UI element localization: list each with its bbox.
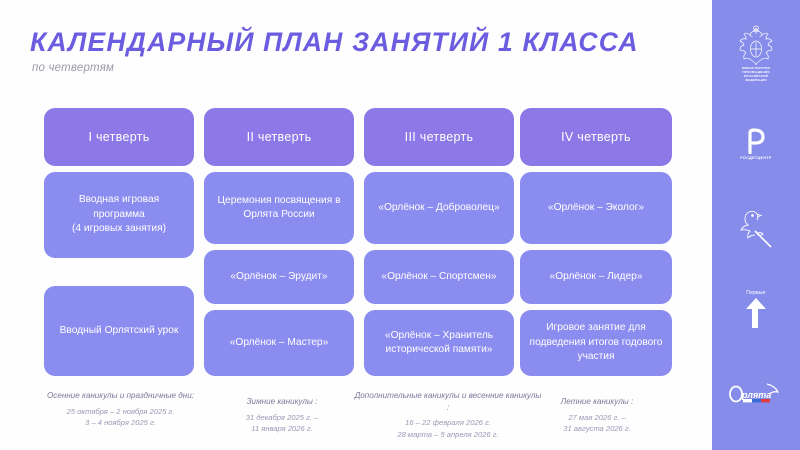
quarter-grid: I четверть II четверть III четверть IV ч… xyxy=(0,0,712,450)
vacation-note-1-title: Осенние каникулы и праздничные дни: xyxy=(18,390,223,402)
activity-card-q3-2: «Орлёнок – Спортсмен» xyxy=(364,250,514,304)
activity-card-q3-3: «Орлёнок – Хранитель исторической памяти… xyxy=(364,310,514,376)
orlyata-rossii-logo: рлята xyxy=(725,382,787,408)
quarter-header-2-label: II четверть xyxy=(247,130,312,144)
pervye-caption: Первые xyxy=(746,290,765,296)
vacation-note-1: Осенние каникулы и праздничные дни: 25 о… xyxy=(18,390,223,429)
vacation-note-1-body: 25 октября – 2 ноября 2025 г. 3 – 4 нояб… xyxy=(18,406,223,429)
activity-card-q2-2: «Орлёнок – Эрудит» xyxy=(204,250,354,304)
rosdetcentr-p-icon xyxy=(743,128,769,154)
vacation-note-4-body: 27 мая 2026 г. – 31 августа 2026 г. xyxy=(512,412,682,435)
vacation-note-2-title: Зимние каникулы : xyxy=(198,396,366,408)
quarter-header-3-label: III четверть xyxy=(405,130,474,144)
vacation-note-2-body: 31 декабря 2025 г. – 11 января 2026 г. xyxy=(198,412,366,435)
vacation-note-2: Зимние каникулы : 31 декабря 2025 г. – 1… xyxy=(198,396,366,435)
quarter-header-4-label: IV четверть xyxy=(561,130,631,144)
ministry-of-education-logo: МИНИСТЕРСТВО ПРОСВЕЩЕНИЯ РОССИЙСКОЙ ФЕДЕ… xyxy=(721,25,791,82)
activity-card-q2-1: Церемония посвящения в Орлята России xyxy=(204,172,354,244)
quarter-header-2: II четверть xyxy=(204,108,354,166)
ministry-of-education-caption: МИНИСТЕРСТВО ПРОСВЕЩЕНИЯ РОССИЙСКОЙ ФЕДЕ… xyxy=(742,67,770,82)
activity-card-q2-3: «Орлёнок – Мастер» xyxy=(204,310,354,376)
quarter-header-3: III четверть xyxy=(364,108,514,166)
rosdetcentr-caption: РОСДЕТЦЕНТР xyxy=(740,156,771,160)
activity-card-q4-1: «Орлёнок – Эколог» xyxy=(520,172,672,244)
vacation-note-4: Летние каникулы : 27 мая 2026 г. – 31 ав… xyxy=(512,396,682,435)
activity-card-q1-1: Вводная игровая программа (4 игровых зан… xyxy=(44,172,194,258)
orlyata-rossii-wordmark-icon: рлята xyxy=(727,382,785,408)
activity-card-q1-2: Вводный Орлятский урок xyxy=(44,286,194,376)
vacation-note-4-title: Летние каникулы : xyxy=(512,396,682,408)
pervye-arrow-icon xyxy=(743,297,769,329)
pervye-logo: Первые xyxy=(726,290,786,329)
rosdetcentr-logo: РОСДЕТЦЕНТР xyxy=(720,128,792,160)
eaglet-flag-logo xyxy=(726,208,786,252)
double-headed-eagle-icon xyxy=(730,25,782,65)
quarter-header-1: I четверть xyxy=(44,108,194,166)
slide-canvas: КАЛЕНДАРНЫЙ ПЛАН ЗАНЯТИЙ 1 КЛАССА по чет… xyxy=(0,0,800,450)
logo-sidebar: МИНИСТЕРСТВО ПРОСВЕЩЕНИЯ РОССИЙСКОЙ ФЕДЕ… xyxy=(712,0,800,450)
activity-card-q4-3: Игровое занятие для подведения итогов го… xyxy=(520,310,672,376)
activity-card-q4-2: «Орлёнок – Лидер» xyxy=(520,250,672,304)
quarter-header-1-label: I четверть xyxy=(88,130,149,144)
eaglet-with-flag-icon xyxy=(735,208,777,252)
svg-text:рлята: рлята xyxy=(741,390,771,400)
activity-card-q3-1: «Орлёнок – Доброволец» xyxy=(364,172,514,244)
quarter-header-4: IV четверть xyxy=(520,108,672,166)
